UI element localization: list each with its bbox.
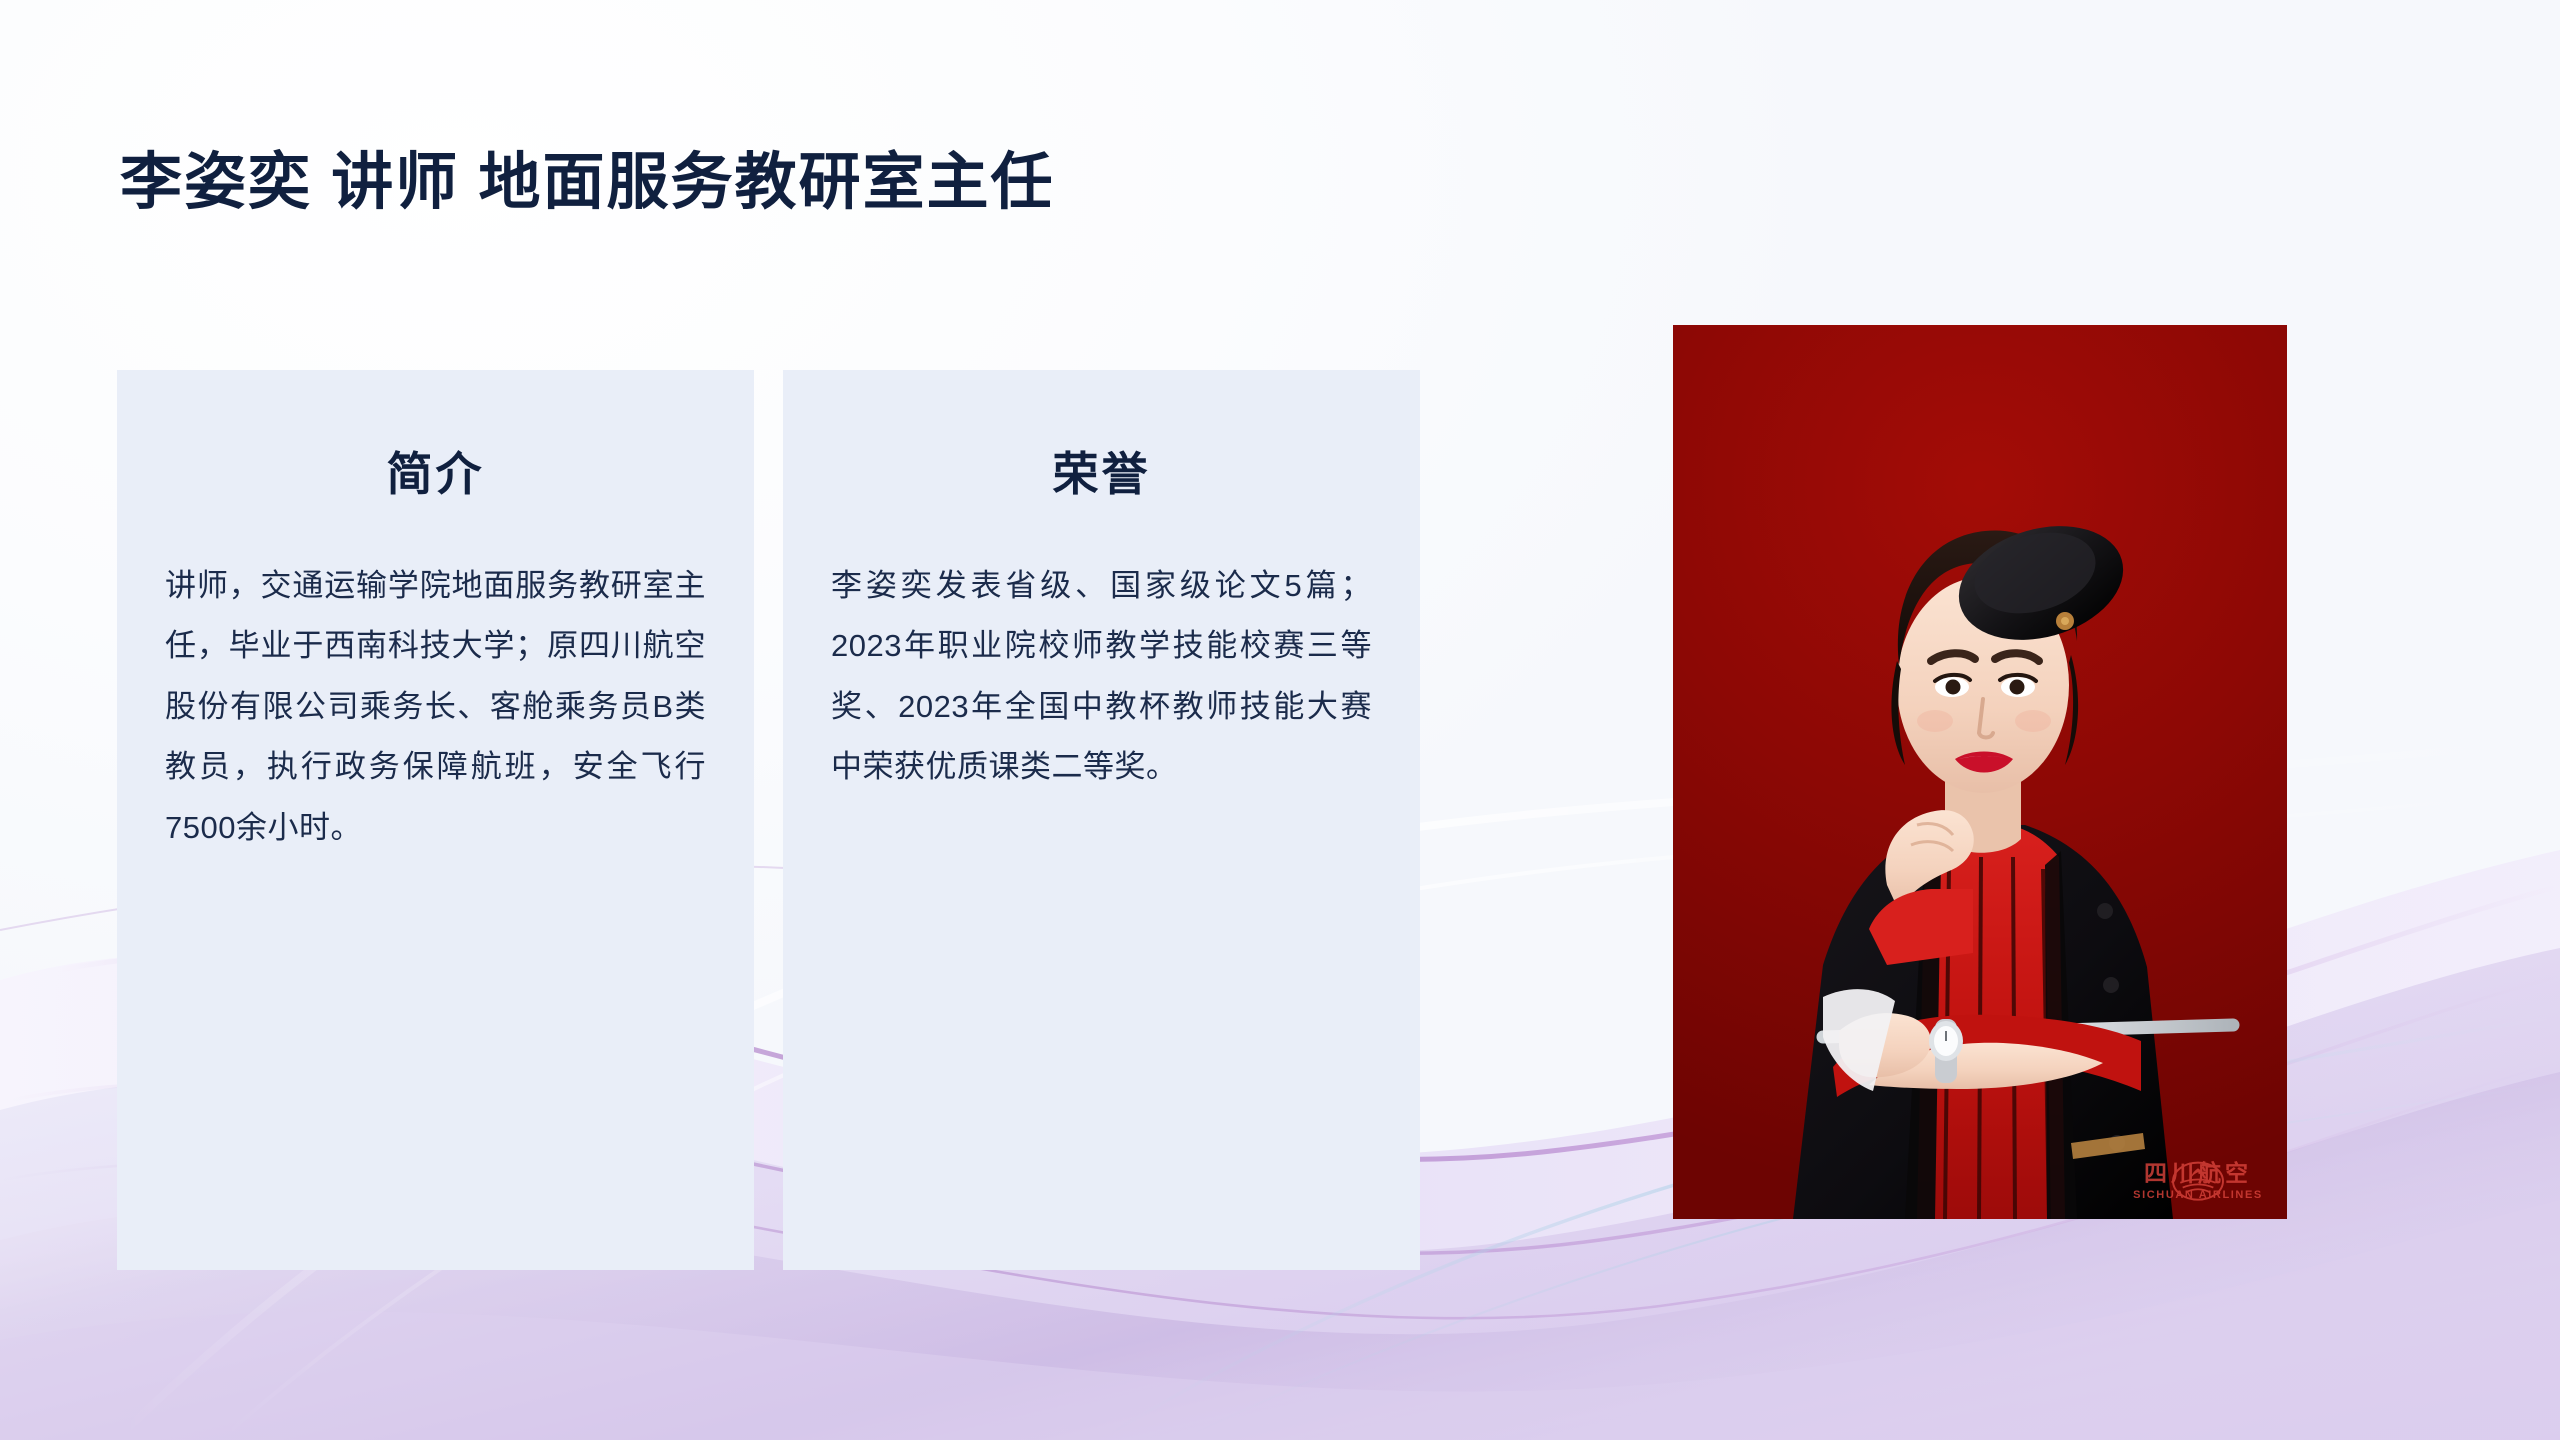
airline-watermark: 四川航空 SICHUAN AIRLINES — [2123, 1161, 2273, 1201]
sichuan-airlines-logo-icon — [2123, 1161, 2273, 1201]
info-card-intro: 简介 讲师，交通运输学院地面服务教研室主任，毕业于西南科技大学；原四川航空股份有… — [117, 370, 754, 1270]
card-heading-intro: 简介 — [165, 370, 706, 504]
card-body-honor: 李姿奕发表省级、国家级论文5篇；2023年职业院校师教学技能校赛三等奖、2023… — [831, 504, 1372, 798]
portrait-illustration — [1673, 325, 2287, 1219]
card-body-intro: 讲师，交通运输学院地面服务教研室主任，毕业于西南科技大学；原四川航空股份有限公司… — [165, 504, 706, 858]
portrait-photo: 四川航空 SICHUAN AIRLINES — [1673, 325, 2287, 1219]
slide-canvas: 李姿奕 讲师 地面服务教研室主任 简介 讲师，交通运输学院地面服务教研室主任，毕… — [0, 0, 2560, 1440]
slide-title: 李姿奕 讲师 地面服务教研室主任 — [120, 146, 1054, 220]
card-heading-honor: 荣誉 — [831, 370, 1372, 504]
info-card-honor: 荣誉 李姿奕发表省级、国家级论文5篇；2023年职业院校师教学技能校赛三等奖、2… — [783, 370, 1420, 1270]
